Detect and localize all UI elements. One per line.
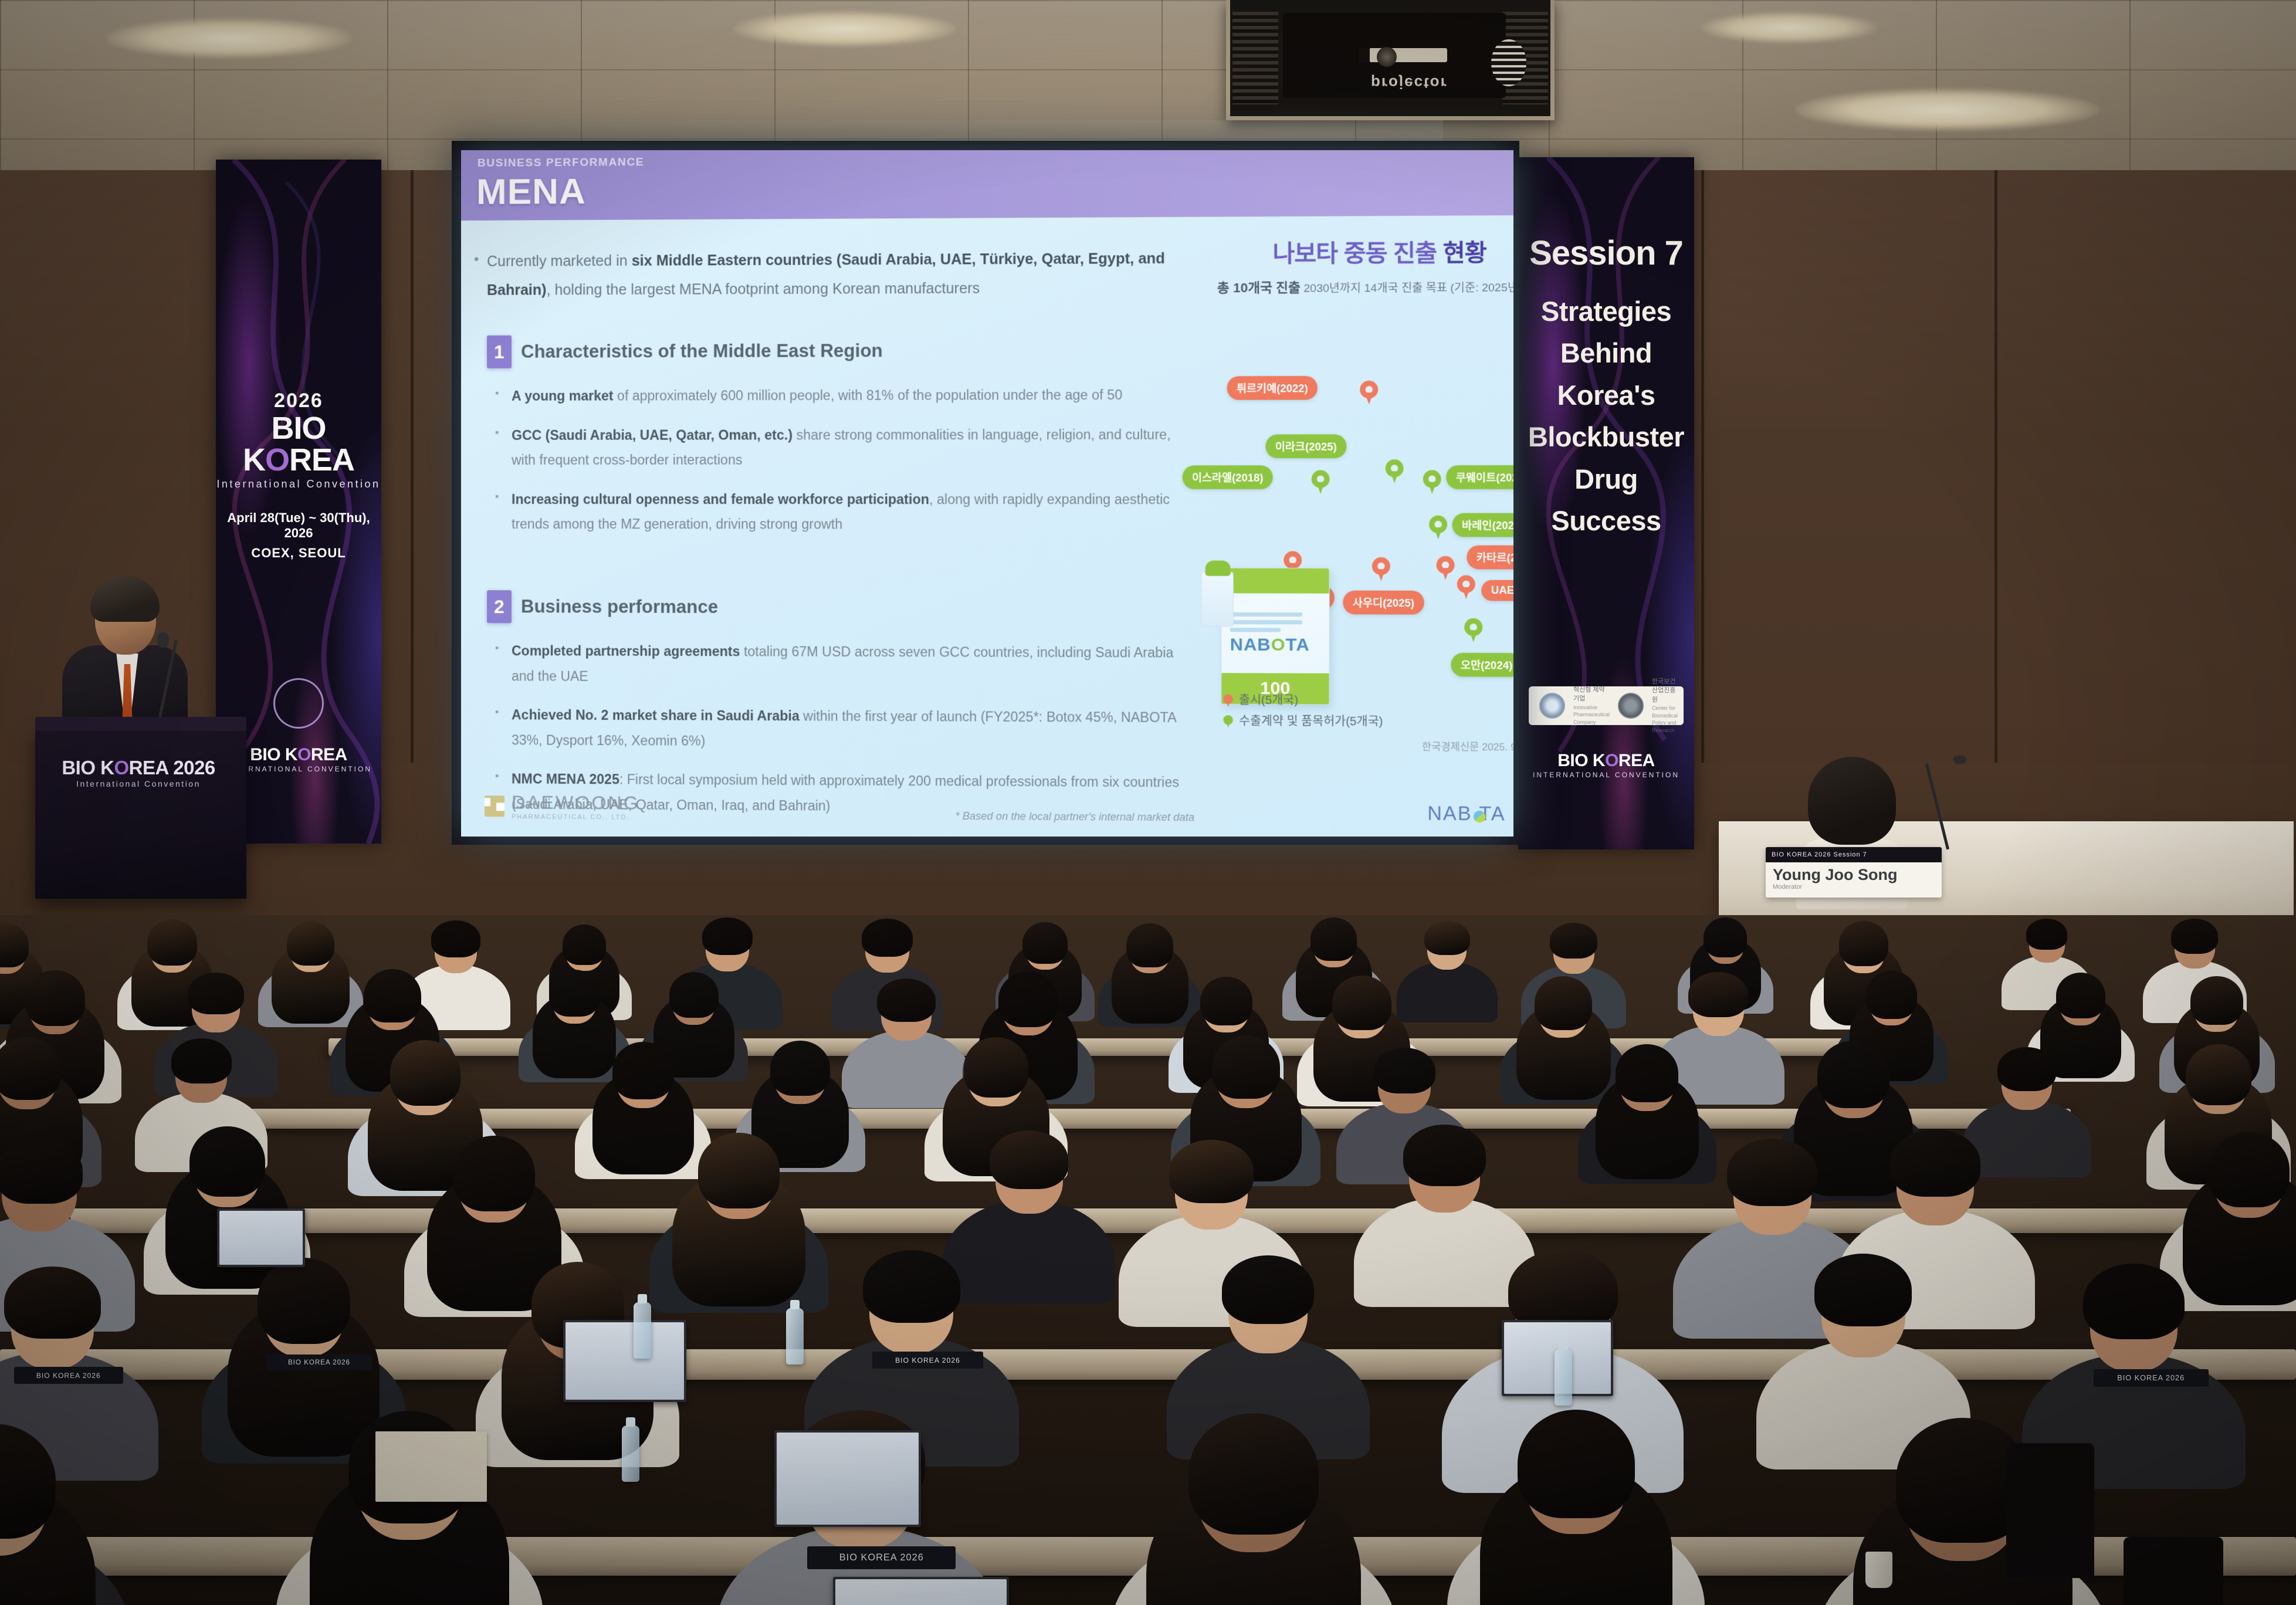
ceiling-light — [1701, 12, 1877, 43]
nameplate-name: Young Joo Song — [1773, 866, 1897, 884]
section-number-badge: 2 — [487, 590, 512, 623]
nameplate-header: BIO KOREA 2026 Session 7 — [1766, 847, 1942, 862]
audience-hair — [364, 969, 421, 1022]
banner-year: 2026 — [216, 390, 381, 412]
legend-item: 출시(5개국) — [1223, 690, 1383, 712]
banner-wordmark: BIO KOREA — [216, 412, 381, 476]
map-pin-icon — [1372, 557, 1390, 583]
audience-hair — [188, 973, 244, 1014]
nabota-product-box: NABOTA 100 — [1221, 568, 1329, 705]
map-pin-label: 사우디(2025) — [1343, 591, 1424, 615]
conference-hall-photo: projector 2026 BIO KOREA International C… — [0, 0, 2296, 1605]
audience-hair — [1424, 921, 1470, 955]
audience-hair — [1374, 1048, 1435, 1094]
ceiling-light — [733, 11, 956, 47]
map-pin-label: 카타르(2025) — [1467, 546, 1513, 570]
panelist-nameplate: BIO KOREA 2026 Session 7 Young Joo Song … — [1766, 847, 1942, 898]
slide-section-1: 1 Characteristics of the Middle East Reg… — [487, 333, 1188, 551]
infographic-title: 나보타 중동 진출 현황 — [1210, 233, 1513, 269]
audience-torso — [1397, 961, 1498, 1022]
map-pin-icon — [1423, 470, 1441, 495]
audience-hair — [2171, 919, 2218, 954]
projector-panel — [1359, 48, 1447, 62]
audience-hair — [1817, 1041, 1890, 1108]
audience-hair — [1518, 1410, 1635, 1519]
audience-hair — [862, 919, 913, 957]
slide-title: MENA — [476, 171, 586, 213]
slide-lead-bullet: Currently marketed in six Middle Eastern… — [487, 244, 1224, 304]
slide-kicker: BUSINESS PERFORMANCE — [478, 156, 644, 170]
panel-microphone-icon — [1953, 756, 1966, 764]
session-number: Session 7 — [1518, 233, 1694, 273]
audience-hair — [1727, 1139, 1817, 1206]
audience-hair — [1866, 971, 1917, 1018]
audience-hair — [1332, 976, 1391, 1030]
water-bottle — [1555, 1349, 1572, 1406]
ceiling-projector-housing: projector — [1226, 0, 1555, 120]
section-title: Business performance — [521, 596, 718, 618]
map-pin-icon — [1386, 459, 1404, 485]
map-pin-icon — [1429, 516, 1447, 541]
slide-body: Currently marketed in six Middle Eastern… — [461, 215, 1513, 837]
audience-laptop — [217, 1208, 305, 1267]
map-pin-label: 이라크(2025) — [1265, 434, 1346, 458]
banner-emblem-icon — [273, 678, 324, 729]
map-pin-label: 오만(2024) — [1451, 653, 1513, 677]
water-bottle — [634, 1302, 651, 1359]
bullet-item: Completed partnership agreements totalin… — [487, 638, 1188, 690]
map-pin-label: 바레인(2022) — [1452, 513, 1513, 537]
audience-hair — [1997, 1047, 2056, 1091]
ceiling-light — [106, 18, 352, 59]
audience-hair — [1616, 1044, 1678, 1103]
audience-hair — [2190, 976, 2243, 1025]
audience-laptop — [563, 1320, 686, 1402]
audience-hair — [1839, 921, 1888, 966]
water-bottle — [786, 1308, 804, 1364]
legend-item: 수출계약 및 품목허가(5개국) — [1223, 711, 1383, 733]
audience-hair — [0, 923, 29, 967]
bullet-item: Increasing cultural openness and female … — [487, 486, 1188, 537]
section-title: Characteristics of the Middle East Regio… — [521, 340, 883, 363]
map-pin-icon — [1312, 470, 1330, 495]
map-pin-icon — [1437, 556, 1455, 581]
sponsor-label: 한국보건산업진흥원 Center for Biomedical Policy a… — [1652, 678, 1678, 734]
bullet-item: A young market of approximately 600 mill… — [487, 382, 1188, 409]
map-pin-icon — [1457, 575, 1475, 600]
audience-hair — [1403, 1125, 1485, 1186]
daewoong-logo: DAEWOONG PHARMACEUTICAL CO., LTD. — [485, 791, 640, 821]
audience-hair — [189, 1126, 265, 1197]
daewoong-mark-icon — [485, 795, 504, 817]
projector-lens — [1377, 47, 1397, 67]
audience-hair — [612, 1042, 675, 1099]
audience-hair — [0, 1139, 83, 1204]
audience-laptop — [833, 1577, 1009, 1605]
lanyard-badge: BIO KOREA 2026 — [2094, 1369, 2209, 1387]
handout-papers — [375, 1431, 487, 1502]
audience-hair — [2209, 1132, 2290, 1207]
podium-microphone-icon — [157, 632, 169, 648]
map-pin-icon — [1464, 618, 1482, 644]
projector-body: projector — [1283, 13, 1506, 98]
projector-fan — [1491, 39, 1526, 86]
infographic-source: 한국경제신문 2025. 9. 29 — [1422, 738, 1513, 753]
sponsor-seal-icon — [1539, 693, 1565, 719]
audience-hair — [877, 978, 936, 1022]
audience-chair — [2124, 1537, 2223, 1605]
audience-hair — [1212, 1035, 1280, 1099]
podium: BIO KOREA 2026 International Convention — [35, 729, 246, 899]
session-banner: Session 7 Strategies Behind Korea's Bloc… — [1518, 157, 1694, 849]
audience-hair — [549, 970, 600, 1017]
audience-hair — [287, 922, 334, 966]
audience-hair — [2186, 1044, 2251, 1105]
water-bottle — [622, 1425, 639, 1482]
audience-laptop — [774, 1430, 921, 1527]
ceiling-light — [1795, 88, 2100, 131]
projection-screen: BUSINESS PERFORMANCE MENA Currently mark… — [461, 150, 1513, 837]
audience-hair — [390, 1040, 460, 1105]
lanyard-badge: BIO KOREA 2026 — [14, 1367, 123, 1384]
bullet-item: Achieved No. 2 market share in Saudi Ara… — [487, 702, 1188, 756]
map-pin-label: 이스라엘(2018) — [1183, 465, 1273, 489]
audience-hair — [998, 971, 1058, 1027]
session-title: Strategies Behind Korea's Blockbuster Dr… — [1518, 290, 1694, 542]
banner-footer-logo: BIO KOREA INTERNATIONAL CONVENTION — [1518, 751, 1694, 779]
sponsor-seal-icon — [1618, 693, 1644, 719]
audience-hair — [171, 1038, 232, 1083]
lanyard-badge: BIO KOREA 2026 — [266, 1355, 371, 1370]
audience-hair — [863, 1250, 960, 1323]
podium-sign: BIO KOREA 2026 International Convention — [50, 757, 226, 788]
bullet-item: GCC (Saudi Arabia, UAE, Qatar, Oman, etc… — [487, 422, 1188, 473]
session-text-block: Session 7 Strategies Behind Korea's Bloc… — [1518, 233, 1694, 542]
paper-cup — [1865, 1552, 1892, 1588]
audience-hair — [147, 919, 197, 966]
audience-hair — [1169, 1140, 1254, 1203]
audience-hair — [1188, 1413, 1319, 1535]
banner-location: COEX, SEOUL — [216, 546, 381, 561]
audience-hair — [1535, 976, 1592, 1030]
audience-hair — [258, 1258, 350, 1344]
nabota-middle-east-infographic: 나보타 중동 진출 현황 총 10개국 진출 2030년까지 14개국 진출 목… — [1210, 233, 1513, 837]
audience-hair — [770, 1041, 829, 1096]
audience-hair — [1310, 917, 1357, 961]
projector-vent — [1232, 12, 1278, 104]
audience-hair — [1704, 917, 1747, 958]
map-pin-label: 쿠웨이트(2023) — [1446, 465, 1513, 489]
audience-hair — [4, 1267, 101, 1339]
audience-area: BIO KOREA 2026BIO KOREA 2026BIO KOREA 20… — [0, 915, 2296, 1605]
audience-chair — [2006, 1443, 2094, 1578]
bio-korea-logo: 2026 BIO KOREA International Convention … — [216, 390, 381, 561]
nabota-logo: NAB TA — [1427, 802, 1505, 825]
map-pin-label: UAE(2020) — [1481, 580, 1513, 601]
banner-tagline: International Convention — [216, 478, 381, 490]
audience-hair — [453, 1136, 536, 1212]
audience-hair — [1200, 977, 1252, 1025]
audience-hair — [1126, 923, 1173, 967]
sponsor-label: 혁신형 제약기업 Innovative Pharmaceutical Compa… — [1573, 686, 1610, 726]
audience-hair — [431, 920, 480, 957]
nabota-brand-label: NABOTA — [1230, 635, 1310, 655]
audience-hair — [25, 970, 85, 1026]
section-number-badge: 1 — [487, 336, 512, 368]
audience-hair — [1688, 972, 1748, 1017]
audience-hair — [1222, 1255, 1314, 1325]
audience-hair — [0, 1037, 61, 1100]
audience-hair — [1814, 1254, 1912, 1326]
audience-hair — [990, 1130, 1068, 1189]
lanyard-badge: BIO KOREA 2026 — [807, 1546, 956, 1569]
projection-screen-frame: BUSINESS PERFORMANCE MENA Currently mark… — [452, 141, 1519, 845]
map-pin-icon — [1360, 381, 1378, 406]
map-pin-label: 튀르키예(2022) — [1227, 376, 1318, 400]
nabota-vial — [1201, 572, 1233, 627]
slide-header: BUSINESS PERFORMANCE MENA — [461, 150, 1513, 221]
audience-hair — [1022, 922, 1068, 964]
audience-hair — [669, 972, 719, 1018]
projector-brand-label: projector — [1371, 74, 1448, 92]
infographic-subtitle: 총 10개국 진출 2030년까지 14개국 진출 목표 (기준: 2025년 … — [1210, 276, 1513, 297]
sponsor-logo-strip: 혁신형 제약기업 Innovative Pharmaceutical Compa… — [1529, 686, 1684, 725]
audience-hair — [1550, 923, 1597, 959]
audience-hair — [964, 1037, 1029, 1098]
audience-hair — [698, 1133, 779, 1208]
audience-hair — [1890, 1129, 1980, 1197]
audience-hair — [702, 917, 753, 955]
section-bullet-list: A young market of approximately 600 mill… — [487, 382, 1188, 537]
audience-hair — [2026, 919, 2067, 950]
audience-hair — [2083, 1264, 2185, 1340]
middle-east-map: 튀르키예(2022)이라크(2025)이스라엘(2018)쿠웨이트(2023)바… — [1210, 323, 1513, 777]
banner-date: April 28(Tue) ~ 30(Thu), 2026 — [216, 510, 381, 541]
nameplate-role: Moderator — [1773, 883, 1802, 890]
map-legend: 출시(5개국) 수출계약 및 품목허가(5개국) — [1223, 690, 1383, 733]
audience-hair — [563, 925, 606, 964]
slide-footnote: * Based on the local partner's internal … — [956, 810, 1195, 824]
lanyard-badge: BIO KOREA 2026 — [872, 1352, 983, 1369]
audience-hair — [2056, 973, 2105, 1018]
